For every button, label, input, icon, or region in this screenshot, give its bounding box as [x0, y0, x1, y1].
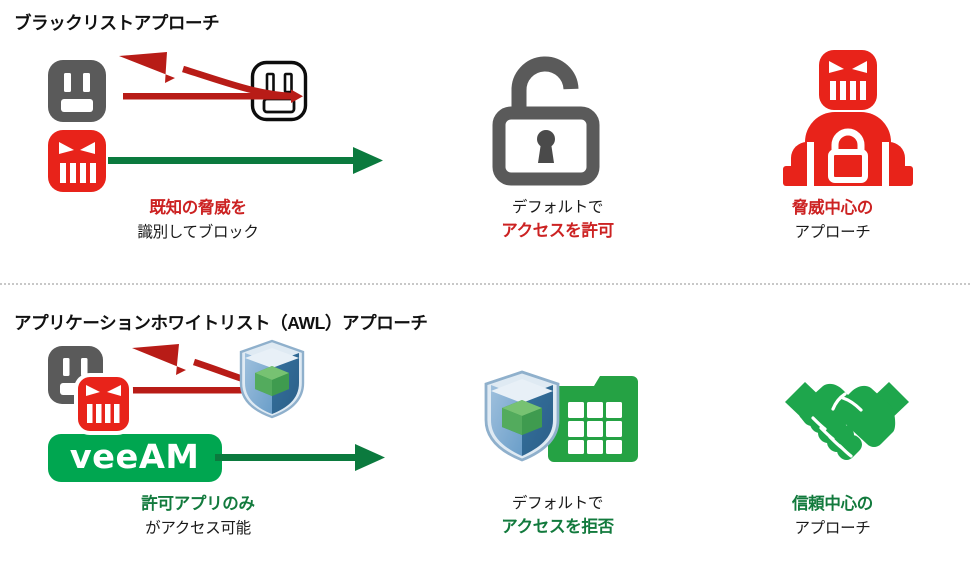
caption-line-2: がアクセス可能 [0, 517, 408, 540]
green-allowed-arrow [108, 143, 383, 179]
threat-actor-with-lock-red-icon [783, 50, 913, 188]
caption-line-1: デフォルトで [420, 492, 695, 515]
angry-threat-red-icon [48, 130, 106, 192]
blacklist-default-caption: デフォルトで アクセスを許可 [420, 196, 695, 244]
caption-line-2: 識別してブロック [0, 221, 408, 244]
awl-flow-caption: 許可アプリのみ がアクセス可能 [0, 492, 408, 540]
caption-line-2: アクセスを拒否 [420, 515, 695, 540]
blacklist-section: ブラックリストアプローチ [0, 0, 970, 284]
caption-line-1: 信頼中心の [695, 492, 970, 517]
awl-section-title: アプリケーションホワイトリスト（AWL）アプローチ [14, 310, 428, 335]
caption-line-2: アクセスを許可 [420, 219, 695, 244]
green-allowed-arrow [215, 440, 385, 476]
shield-and-green-folder-icon [482, 364, 642, 469]
caption-line-1: 既知の脅威を [0, 196, 408, 221]
veeam-shield-cube-icon [237, 339, 307, 419]
blacklist-section-title: ブラックリストアプローチ [14, 10, 219, 35]
caption-line-2: アプローチ [695, 221, 970, 244]
blacklist-approach-caption: 脅威中心の アプローチ [695, 196, 970, 244]
awl-default-caption: デフォルトで アクセスを拒否 [420, 492, 695, 540]
veeam-logo-badge: veeAM [48, 434, 222, 482]
awl-section: アプリケーションホワイトリスト（AWL）アプローチ [0, 284, 970, 568]
awl-approach-caption: 信頼中心の アプローチ [695, 492, 970, 540]
veeam-wordmark: veeAM [70, 440, 200, 476]
open-padlock-gray-icon [493, 55, 605, 183]
diagram-board: ブラックリストアプローチ [0, 0, 970, 568]
caption-line-1: 許可アプリのみ [0, 492, 408, 517]
device-face-gray-icon [48, 60, 106, 122]
angry-threat-red-icon [74, 373, 129, 431]
red-blocked-arrow [105, 50, 305, 120]
caption-line-1: 脅威中心の [695, 196, 970, 221]
caption-line-1: デフォルトで [420, 196, 695, 219]
caption-line-2: アプローチ [695, 517, 970, 540]
blacklist-flow-caption: 既知の脅威を 識別してブロック [0, 196, 408, 244]
handshake-green-icon [783, 368, 911, 466]
